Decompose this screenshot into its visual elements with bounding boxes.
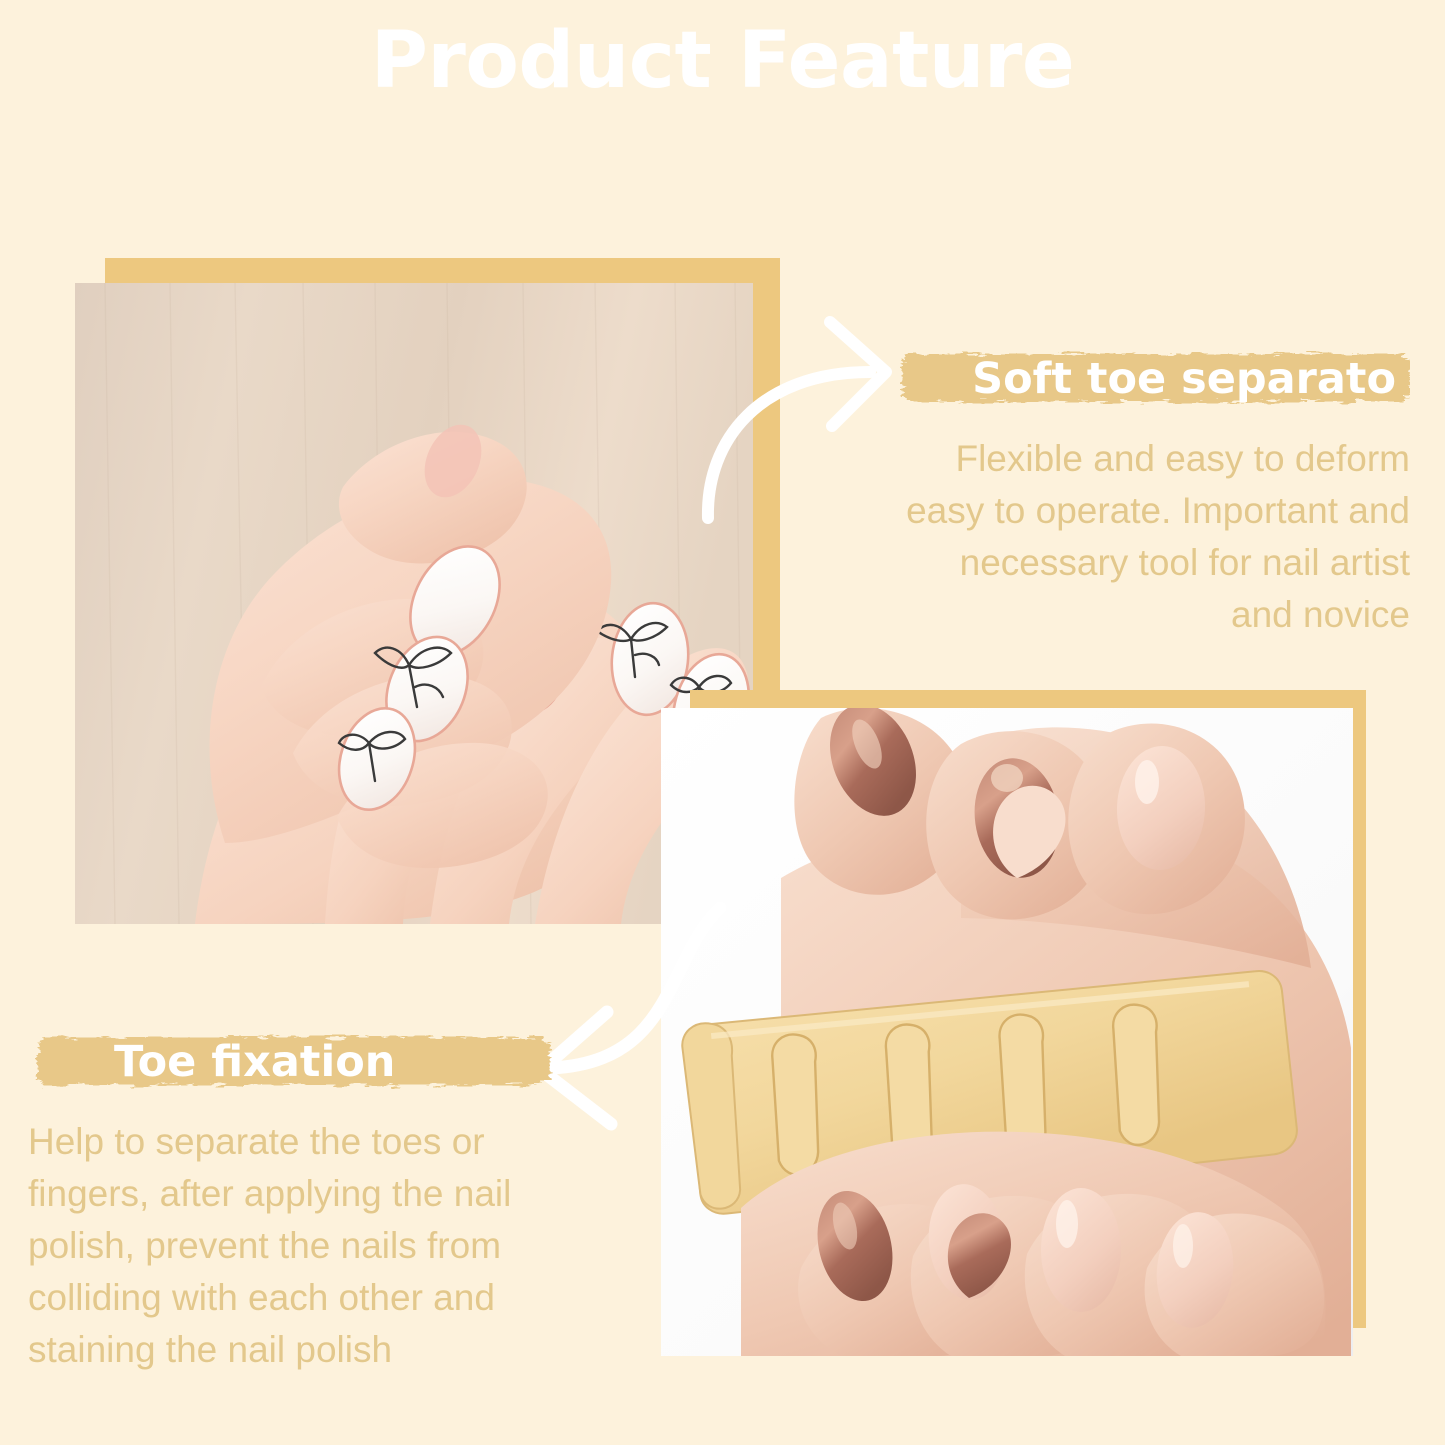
- feature-block-toe-fixation: Toe fixation Help to separate the toes o…: [28, 1028, 558, 1376]
- feature-heading-soft-toe-separator: Soft toe separato: [900, 345, 1410, 413]
- arrow-left-icon: [515, 890, 810, 1160]
- page-title: Product Feature: [0, 16, 1445, 106]
- photo-white-nails: [75, 283, 753, 924]
- white-nails-illustration: [75, 283, 753, 924]
- feature-body-text-2: Help to separate the toes or fingers, af…: [28, 1116, 558, 1376]
- feature-body-text-1: Flexible and easy to deform easy to oper…: [900, 433, 1410, 641]
- feature-heading-toe-fixation: Toe fixation: [28, 1028, 558, 1096]
- feature-heading-label-2: Toe fixation: [28, 1028, 558, 1096]
- page-header: Product Feature: [0, 0, 1445, 175]
- feature-block-soft-toe-separator: Soft toe separato Flexible and easy to d…: [900, 345, 1410, 641]
- feature-heading-label-1: Soft toe separato: [900, 345, 1410, 413]
